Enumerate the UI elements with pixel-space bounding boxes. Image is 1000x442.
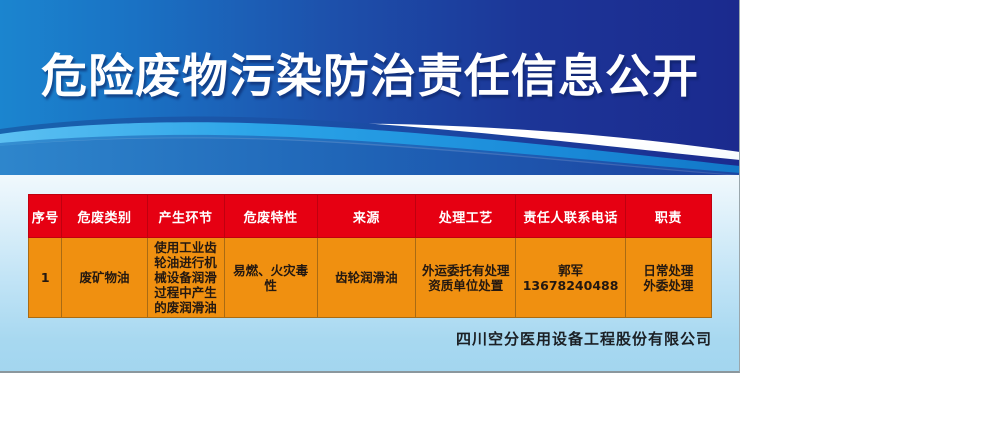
column-header-seq: 序号: [29, 195, 62, 238]
cell-stage: 使用工业齿轮油进行机械设备润滑过程中产生的废润滑油: [147, 238, 224, 318]
column-header-process: 处理工艺: [416, 195, 516, 238]
cell-source: 齿轮润滑油: [317, 238, 415, 318]
cell-contact: 郭军 13678240488: [516, 238, 625, 318]
cell-feature: 易燃、火灾毒性: [224, 238, 317, 318]
table-row: 1 废矿物油 使用工业齿轮油进行机械设备润滑过程中产生的废润滑油 易燃、火灾毒性…: [29, 238, 712, 318]
hazardous-waste-table: 序号 危废类别 产生环节 危废特性 来源 处理工艺 责任人联系电话 职责 1 废…: [28, 194, 712, 318]
column-header-source: 来源: [317, 195, 415, 238]
cell-process: 外运委托有处理资质单位处置: [416, 238, 516, 318]
column-header-feature: 危废特性: [224, 195, 317, 238]
column-header-contact: 责任人联系电话: [516, 195, 625, 238]
column-header-category: 危废类别: [62, 195, 147, 238]
column-header-stage: 产生环节: [147, 195, 224, 238]
company-name: 四川空分医用设备工程股份有限公司: [0, 328, 712, 349]
cell-duty: 日常处理 外委处理: [625, 238, 711, 318]
table-header-row: 序号 危废类别 产生环节 危废特性 来源 处理工艺 责任人联系电话 职责: [29, 195, 712, 238]
header-banner: 危险废物污染防治责任信息公开: [0, 0, 740, 175]
cell-seq: 1: [29, 238, 62, 318]
column-header-duty: 职责: [625, 195, 711, 238]
page-title: 危险废物污染防治责任信息公开: [0, 48, 740, 104]
cell-category: 废矿物油: [62, 238, 147, 318]
poster-canvas: 危险废物污染防治责任信息公开 序号 危废类别 产生环节 危废特性 来源 处理工艺…: [0, 0, 740, 373]
